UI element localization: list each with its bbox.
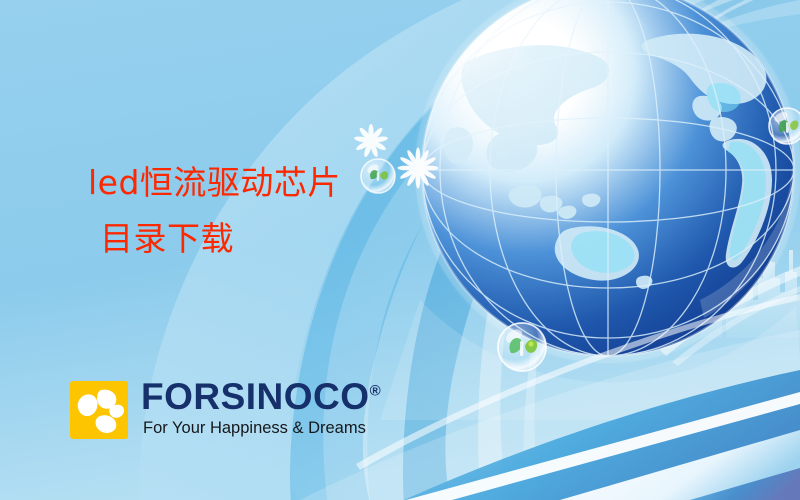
title-line-2: 目录下载 — [100, 218, 418, 260]
title-line-1: led恒流驱动芯片 — [88, 162, 418, 204]
logo-tagline: For Your Happiness & Dreams — [143, 418, 381, 438]
company-logo: FORSINOCO® For Your Happiness & Dreams — [70, 381, 381, 439]
registered-trademark-icon: ® — [370, 383, 382, 400]
slide-title: led恒流驱动芯片 目录下载 — [88, 162, 418, 260]
logo-pinwheel-icon — [70, 381, 128, 439]
logo-brand-name: FORSINOCO® — [141, 378, 381, 416]
slide-canvas: led恒流驱动芯片 目录下载 FORSINOCO® For Your Happi… — [0, 0, 800, 500]
logo-brand-text: FORSINOCO — [141, 376, 370, 417]
